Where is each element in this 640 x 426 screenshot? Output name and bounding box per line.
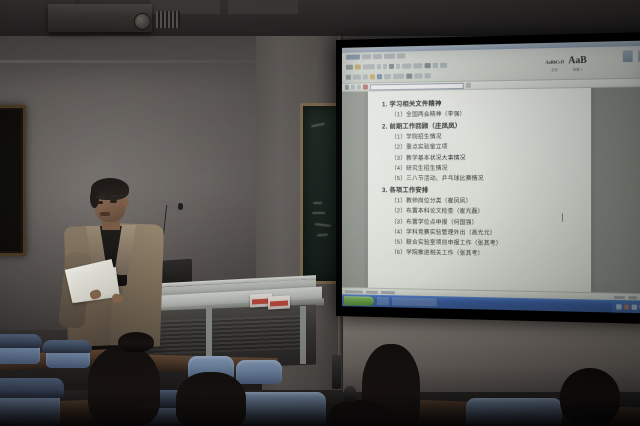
- style-heading1-caption: 标题 1: [568, 68, 586, 71]
- tray-network-icon[interactable]: [616, 304, 621, 309]
- ribbon-row-font: [346, 58, 640, 69]
- quick-launch-icon[interactable]: [377, 297, 389, 305]
- styles-pane-icon[interactable]: [623, 50, 633, 62]
- projection-screen: AaBbCcD 正文 AaB 标题 1: [336, 32, 640, 324]
- presenter-ear: [123, 198, 129, 207]
- document-text-body: 1. 学习相关文件精神（1）全国两会精神（李强）2. 前期工作回顾（庄凤凤）（1…: [368, 88, 591, 261]
- ceiling-projector: [48, 4, 152, 32]
- document-line: （6）学院推进相关工作（张其考）: [382, 248, 585, 261]
- audience-head-6: [118, 332, 154, 352]
- document-canvas: 1. 学习相关文件精神（1）全国两会精神（李强）2. 前期工作回顾（庄凤凤）（1…: [342, 87, 640, 293]
- document-line: （5）三八节活动、乒乓球比赛情况: [382, 174, 585, 185]
- start-button[interactable]: [344, 296, 374, 306]
- document-line: 3. 各项工作安排: [382, 186, 585, 197]
- projector-vent: [156, 11, 180, 28]
- word-ribbon: AaBbCcD 正文 AaB 标题 1: [342, 46, 640, 84]
- desk-microphone: [332, 355, 341, 389]
- style-normal-caption: 正文: [545, 69, 564, 72]
- presenter-brow-left: [96, 196, 105, 198]
- presenter-person: [60, 178, 176, 363]
- presenter-hair-side: [90, 188, 99, 208]
- projection-screen-surface: AaBbCcD 正文 AaB 标题 1: [342, 40, 640, 313]
- presenter-brow-right: [110, 195, 119, 197]
- ribbon-right-group: [623, 50, 640, 62]
- ribbon-row-paragraph: [346, 69, 640, 80]
- document-line: （3）教学基本状况大事情况: [382, 152, 585, 163]
- presenter-eye-left: [96, 201, 103, 204]
- presenter-hand-right: [111, 293, 123, 303]
- text-cursor: [562, 213, 563, 221]
- presenter-eye-right: [110, 200, 117, 203]
- foreground-shadow: [0, 390, 640, 426]
- style-heading1-preview: AaB: [568, 55, 586, 66]
- seat-back-2-frame: [42, 340, 92, 353]
- projector-lens-icon: [134, 13, 151, 30]
- style-heading1[interactable]: AaB 标题 1: [568, 50, 586, 71]
- style-normal[interactable]: AaBbCcD 正文: [545, 51, 564, 72]
- quick-styles-gallery[interactable]: AaBbCcD 正文 AaB 标题 1: [545, 50, 586, 72]
- desk-box-right: [268, 295, 290, 309]
- microphone-head-icon: [178, 203, 183, 210]
- toolbar-combo-field[interactable]: [370, 82, 464, 90]
- word-application-window: AaBbCcD 正文 AaB 标题 1: [342, 40, 640, 313]
- tray-volume-icon[interactable]: [631, 304, 637, 309]
- desk-box-right-label: [270, 301, 288, 307]
- system-tray: 10:08: [611, 300, 640, 314]
- presenter-mouth: [100, 212, 110, 216]
- left-wall-framed-board: [0, 105, 26, 256]
- seat-back-4[interactable]: [236, 360, 282, 384]
- left-wall-board-inner: [0, 110, 21, 251]
- style-normal-preview: AaBbCcD: [545, 59, 564, 65]
- document-line: （4）研究生招生情况: [382, 163, 585, 174]
- taskbar-item-word[interactable]: [392, 297, 437, 306]
- lecture-hall-photo: AaBbCcD 正文 AaB 标题 1: [0, 0, 640, 426]
- document-page[interactable]: 1. 学习相关文件精神（1）全国两会精神（李强）2. 前期工作回顾（庄凤凤）（1…: [368, 88, 591, 292]
- document-line: （1）全国两会精神（李强）: [382, 108, 585, 121]
- seat-back-1-frame: [0, 334, 42, 348]
- wall-seam: [0, 60, 262, 63]
- tray-antivirus-icon[interactable]: [623, 304, 628, 309]
- lectern-leg-right: [300, 306, 306, 364]
